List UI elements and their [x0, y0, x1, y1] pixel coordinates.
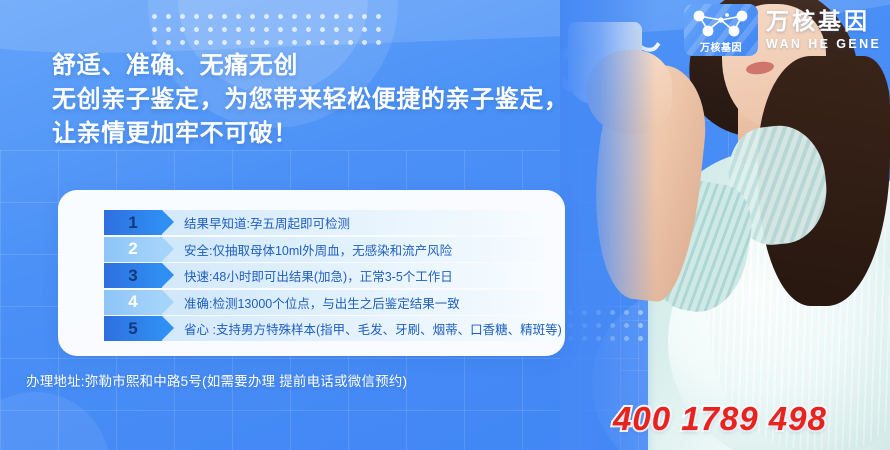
feature-row: 4准确:检测13000个位点，与出生之后鉴定结果一致	[104, 290, 544, 315]
address-text: 办理地址:弥勒市熙和中路5号(如需要办理 提前电话或微信预约)	[26, 370, 407, 390]
feature-row: 1结果早知道:孕五周起即可检测	[104, 210, 544, 235]
dot-grid-icon	[152, 14, 390, 53]
feature-number: 2	[128, 239, 137, 259]
feature-row: 2安全:仅抽取母体10ml外周血，无感染和流产风险	[104, 237, 544, 262]
feature-number-badge: 3	[104, 263, 162, 288]
feature-number: 5	[128, 319, 137, 339]
feature-number: 1	[128, 213, 137, 233]
headline-line-2: 无创亲子鉴定，为您带来轻松便捷的亲子鉴定，	[52, 83, 652, 117]
headline-line-3: 让亲情更加牢不可破！	[52, 117, 652, 151]
feature-label: 快速:48小时即可出结果(加急)，正常3-5个工作日	[162, 263, 544, 288]
feature-label: 结果早知道:孕五周起即可检测	[162, 210, 544, 235]
headline-block: 舒适、准确、无痛无创 无创亲子鉴定，为您带来轻松便捷的亲子鉴定， 让亲情更加牢不…	[52, 49, 652, 151]
feature-number: 4	[128, 292, 137, 312]
brand-logo: 万核基因 万核基因 WAN HE GENE	[684, 2, 884, 58]
logo-mark-label: 万核基因	[684, 39, 758, 54]
logo-name-en: WAN HE GENE	[766, 38, 881, 51]
feature-number: 3	[128, 266, 137, 286]
feature-label: 省心 :支持男方特殊样本(指甲、毛发、牙刷、烟蒂、口香糖、精斑等)	[162, 316, 562, 341]
decor-circle-bottom-left	[0, 392, 110, 450]
feature-label: 准确:检测13000个位点，与出生之后鉴定结果一致	[162, 290, 544, 315]
feature-number-badge: 5	[104, 316, 162, 341]
feature-number-badge: 4	[104, 290, 162, 315]
phone-number[interactable]: 400 1789 498	[613, 400, 827, 438]
feature-card: 1结果早知道:孕五周起即可检测2安全:仅抽取母体10ml外周血，无感染和流产风险…	[58, 190, 565, 356]
logo-name-cn: 万核基因	[766, 10, 881, 33]
promo-banner: 万核基因 万核基因 WAN HE GENE 舒适、准确、无痛无创 无创亲子鉴定，…	[0, 0, 890, 450]
feature-row: 3快速:48小时即可出结果(加急)，正常3-5个工作日	[104, 263, 544, 288]
feature-list: 1结果早知道:孕五周起即可检测2安全:仅抽取母体10ml外周血，无感染和流产风险…	[104, 210, 544, 341]
headline-line-1: 舒适、准确、无痛无创	[52, 49, 652, 83]
feature-number-badge: 2	[104, 237, 162, 262]
feature-number-badge: 1	[104, 210, 162, 235]
feature-label: 安全:仅抽取母体10ml外周血，无感染和流产风险	[162, 237, 544, 262]
feature-row: 5省心 :支持男方特殊样本(指甲、毛发、牙刷、烟蒂、口香糖、精斑等)	[104, 316, 544, 341]
logo-text-block: 万核基因 WAN HE GENE	[766, 10, 881, 51]
molecule-network-icon: 万核基因	[684, 4, 758, 56]
